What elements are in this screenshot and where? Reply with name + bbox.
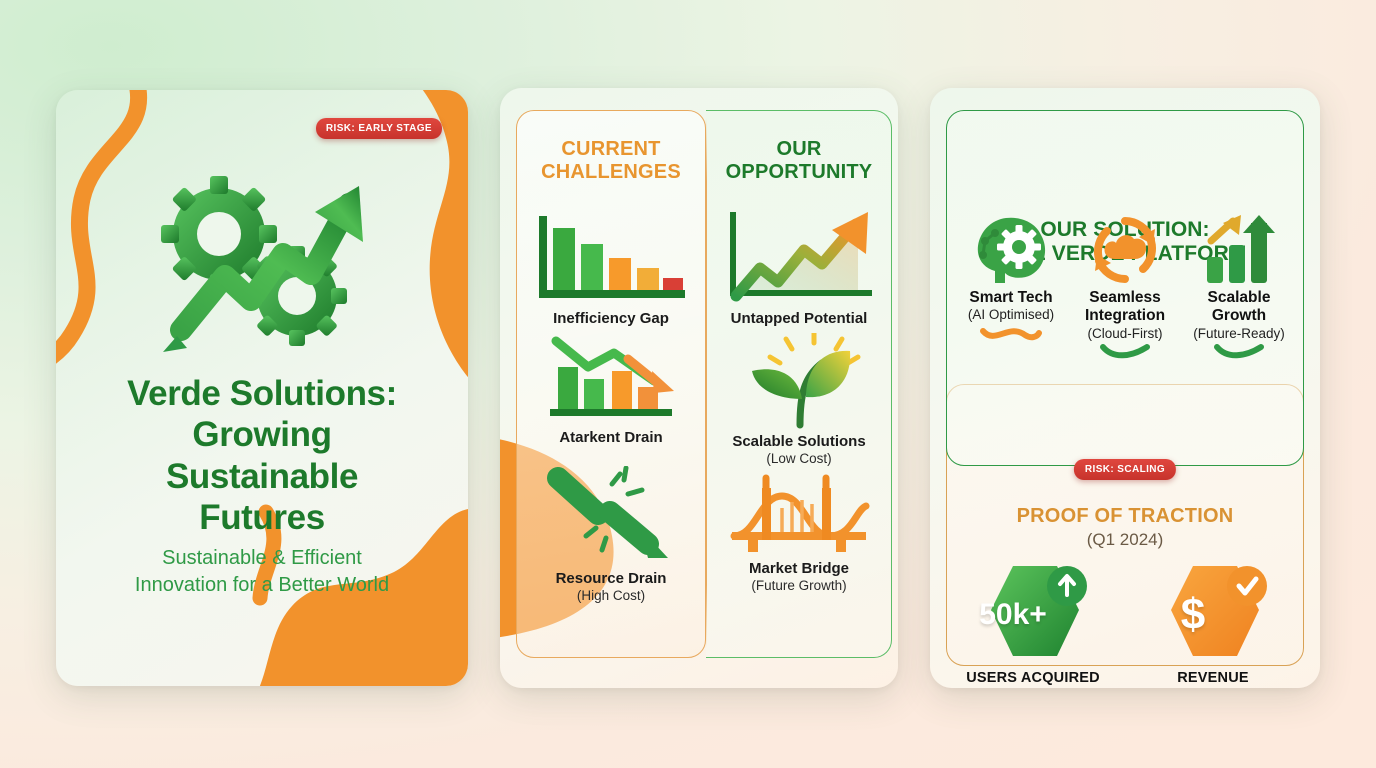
feature-label-line-1: Seamless	[1066, 289, 1184, 307]
title-line-2: Growing	[80, 414, 444, 455]
feature-seamless-integration[interactable]: Seamless Integration (Cloud-First)	[1066, 293, 1184, 359]
feature-label-line-2: Integration	[1066, 307, 1184, 325]
green-underline-swoosh-icon	[1097, 343, 1153, 359]
list-item-untapped-potential[interactable]: Untapped Potential	[706, 206, 892, 328]
feature-sublabel: (Cloud-First)	[1066, 326, 1184, 342]
item-label: Scalable Solutions	[706, 433, 892, 451]
heading-line-2: OPPORTUNITY	[706, 161, 892, 184]
card-challenges-opportunity: CURRENT CHALLENGES OUR OPPORTUNITY Ineff…	[500, 88, 898, 688]
item-label: Inefficiency Gap	[516, 310, 706, 328]
heading-line-1: CURRENT	[516, 138, 706, 161]
feature-smart-tech[interactable]: Smart Tech (AI Optimised)	[952, 293, 1070, 345]
stat-label: REVENUE	[1128, 670, 1298, 686]
item-sublabel: (Future Growth)	[706, 578, 892, 594]
stat-revenue[interactable]: $ REVENUE (Seed Funding Secured)	[1128, 560, 1298, 688]
title-line-4: Futures	[80, 497, 444, 538]
panel-our-solution	[946, 110, 1304, 466]
stat-label: USERS ACQUIRED	[948, 670, 1118, 686]
item-label: Atarkent Drain	[516, 429, 706, 447]
hex-badge-users: 50k+	[973, 560, 1093, 670]
heading-line-1: OUR	[706, 138, 892, 161]
brain-gear-icon	[971, 215, 1051, 285]
list-item-atarkent-drain[interactable]: Atarkent Drain	[516, 333, 706, 447]
growth-bars-arrow-icon	[1199, 215, 1279, 285]
list-item-scalable-solutions[interactable]: Scalable Solutions (Low Cost)	[706, 333, 892, 467]
feature-label: Smart Tech	[952, 289, 1070, 307]
list-item-inefficiency-gap[interactable]: Inefficiency Gap	[516, 206, 706, 328]
heading-proof-of-traction: PROOF OF TRACTION	[930, 505, 1320, 528]
feature-sublabel: (Future-Ready)	[1180, 326, 1298, 342]
item-sublabel: (High Cost)	[516, 588, 706, 604]
title-line-1: Verde Solutions:	[80, 373, 444, 414]
hex-badge-revenue: $	[1153, 560, 1273, 670]
feature-scalable-growth[interactable]: Scalable Growth (Future-Ready)	[1180, 293, 1298, 359]
infographic-canvas: RISK: EARLY STAGE	[0, 0, 1376, 768]
item-label: Market Bridge	[706, 560, 892, 578]
item-sublabel: (Low Cost)	[706, 451, 892, 467]
page-subtitle: Sustainable & Efficient Innovation for a…	[56, 545, 468, 599]
item-label: Resource Drain	[516, 570, 706, 588]
item-label: Untapped Potential	[706, 310, 892, 328]
proof-period-label: (Q1 2024)	[930, 530, 1320, 550]
stat-sublabel: (Fast Adoption)	[948, 686, 1118, 688]
subtitle-line-2: Innovation for a Better World	[94, 572, 430, 599]
risk-badge-scaling[interactable]: RISK: SCALING	[1074, 459, 1176, 480]
stat-users-acquired[interactable]: 50k+ USERS ACQUIRED (Fast Adoption)	[948, 560, 1118, 688]
feature-sublabel: (AI Optimised)	[952, 307, 1070, 323]
card-solution-traction: OUR SOLUTION: THE VERDE PLATFORM	[930, 88, 1320, 688]
heading-line-2: CHALLENGES	[516, 161, 706, 184]
declining-bar-chart-icon	[527, 206, 695, 306]
downward-trend-bar-chart-icon	[536, 333, 686, 425]
broken-down-arrow-icon	[536, 466, 686, 566]
sprouting-leaf-icon	[730, 333, 868, 429]
hexagon-orange-icon	[1153, 560, 1273, 670]
list-item-market-bridge[interactable]: Market Bridge (Future Growth)	[706, 466, 892, 594]
risk-badge-early-stage[interactable]: RISK: EARLY STAGE	[316, 118, 442, 139]
suspension-bridge-icon	[726, 466, 872, 556]
subtitle-line-1: Sustainable & Efficient	[94, 545, 430, 572]
stat-sublabel: (Seed Funding Secured)	[1128, 686, 1298, 688]
feature-label-line-2: Growth	[1180, 307, 1298, 325]
feature-label-line-1: Scalable	[1180, 289, 1298, 307]
card-hero: RISK: EARLY STAGE	[56, 90, 468, 686]
green-underline-swoosh-icon	[1211, 343, 1267, 359]
gear-growth-arrow-icon	[147, 168, 377, 358]
list-item-resource-drain[interactable]: Resource Drain (High Cost)	[516, 466, 706, 604]
rising-line-chart-arrow-icon	[716, 206, 882, 306]
heading-current-challenges: CURRENT CHALLENGES	[516, 138, 706, 183]
cloud-sync-icon	[1085, 215, 1165, 285]
hexagon-green-icon	[973, 560, 1093, 670]
heading-our-opportunity: OUR OPPORTUNITY	[706, 138, 892, 183]
title-line-3: Sustainable	[80, 456, 444, 497]
orange-underline-swoosh-icon	[979, 325, 1043, 345]
page-title: Verde Solutions: Growing Sustainable Fut…	[56, 373, 468, 538]
